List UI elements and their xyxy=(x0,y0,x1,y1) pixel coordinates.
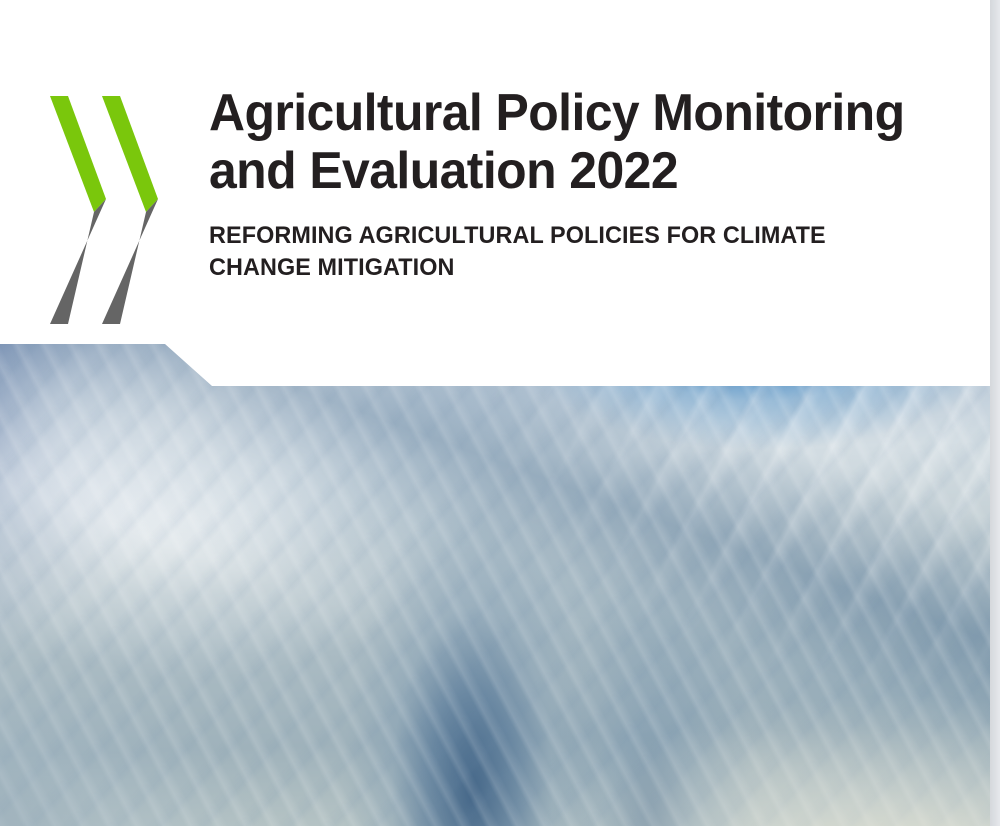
cloud-dark-band xyxy=(0,340,992,826)
sky-navy-corner xyxy=(0,340,992,826)
page-title: Agricultural Policy Monitoring and Evalu… xyxy=(209,84,919,200)
chevron-2-grey xyxy=(102,199,158,324)
cloud-texture xyxy=(0,340,992,826)
cloud-plume-right xyxy=(0,340,992,826)
cloud-glow-bottom-left xyxy=(0,340,992,826)
title-block: Agricultural Policy Monitoring and Evalu… xyxy=(209,84,949,284)
sky-clouds-photo xyxy=(0,340,992,826)
cloud-white-mass xyxy=(0,340,992,826)
chevron-1-grey xyxy=(50,199,106,324)
chevron-2-green xyxy=(102,96,158,212)
page-edge-strip xyxy=(990,0,1000,826)
cloud-cirrus-streaks xyxy=(0,340,992,826)
page-subtitle: REFORMING AGRICULTURAL POLICIES FOR CLIM… xyxy=(209,220,916,284)
oecd-chevron-logo xyxy=(44,92,174,328)
chevron-1-green xyxy=(50,96,106,212)
sky-base-gradient xyxy=(0,340,992,826)
sky-dark-streak xyxy=(0,340,992,826)
cloud-plume-center xyxy=(0,340,992,826)
sky-blue-patch xyxy=(0,340,992,826)
report-cover: Agricultural Policy Monitoring and Evalu… xyxy=(0,0,1000,826)
cloud-haze-bottom-right xyxy=(0,340,992,826)
